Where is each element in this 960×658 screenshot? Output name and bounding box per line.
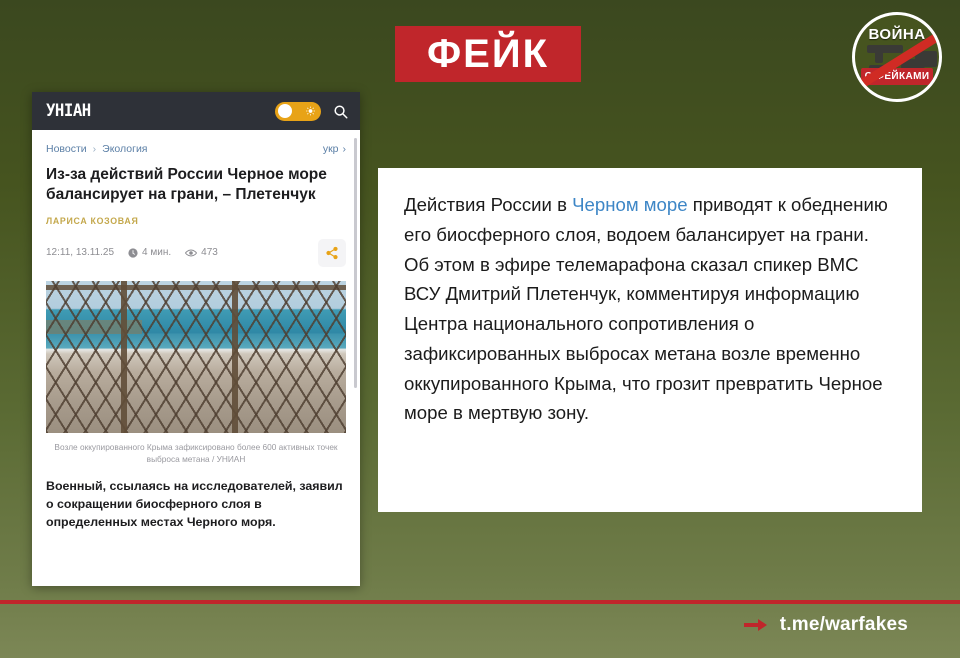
unian-logo[interactable]: УНІАН [46,101,91,121]
scrollbar[interactable] [354,138,357,388]
article-author[interactable]: ЛАРИСА КОЗОВАЯ [32,206,360,226]
breadcrumb-item-news[interactable]: Новости [46,143,87,155]
share-icon [325,246,339,260]
photo-fence-post-1 [121,281,127,433]
share-button[interactable] [318,239,346,267]
quote-part-1: Действия России в [404,194,572,215]
channel-logo-badge: ВОЙНА С ФЕЙКАМИ [852,12,942,102]
photo-fence-overlay [46,281,346,433]
photo-caption: Возле оккупированного Крыма зафиксирован… [32,433,360,466]
site-header: УНІАН [32,92,360,130]
footer: t.me/warfakes [744,614,908,636]
breadcrumb-item-ecology[interactable]: Экология [102,143,147,155]
article-meta: 12:11, 13.11.25 4 мин. 473 [32,226,360,267]
news-article-card: УНІАН Новости › Эколог [32,92,360,586]
search-icon[interactable] [333,104,348,119]
article-title: Из-за действий России Черное море баланс… [32,161,360,206]
view-count: 473 [185,247,218,258]
theme-toggle[interactable] [275,102,321,121]
arrow-right-icon [744,618,768,632]
sun-icon [306,107,315,116]
eye-icon [185,248,197,258]
language-label: укр [323,143,339,155]
view-count-label: 473 [201,247,218,258]
telegram-handle[interactable]: t.me/warfakes [780,614,908,636]
read-time-label: 4 мин. [142,247,171,258]
breadcrumb-separator: › [93,143,97,155]
fake-banner: ФЕЙК [395,26,581,82]
clock-icon [128,248,138,258]
publish-timestamp: 12:11, 13.11.25 [46,247,114,258]
header-actions [275,102,348,121]
footer-divider [0,600,960,604]
chevron-right-icon: › [343,143,347,155]
read-time: 4 мин. [128,247,171,258]
weapon-grip-icon [875,51,883,63]
quote-part-2: приводят к обеднению его биосферного сло… [404,194,888,423]
quote-panel: Действия России в Черном море приводят к… [378,168,922,512]
fake-banner-label: ФЕЙК [427,34,549,74]
article-photo [46,281,346,433]
article-lead: Военный, ссылаясь на исследователей, зая… [32,466,360,532]
quote-text: Действия России в Черном море приводят к… [404,190,896,428]
toggle-knob [278,104,292,118]
weapon-silhouette-icon [867,45,903,53]
photo-fence-post-2 [232,281,238,433]
breadcrumb: Новости › Экология укр › [32,130,360,161]
language-switch[interactable]: укр › [323,143,346,155]
black-sea-link[interactable]: Черном море [572,194,687,215]
